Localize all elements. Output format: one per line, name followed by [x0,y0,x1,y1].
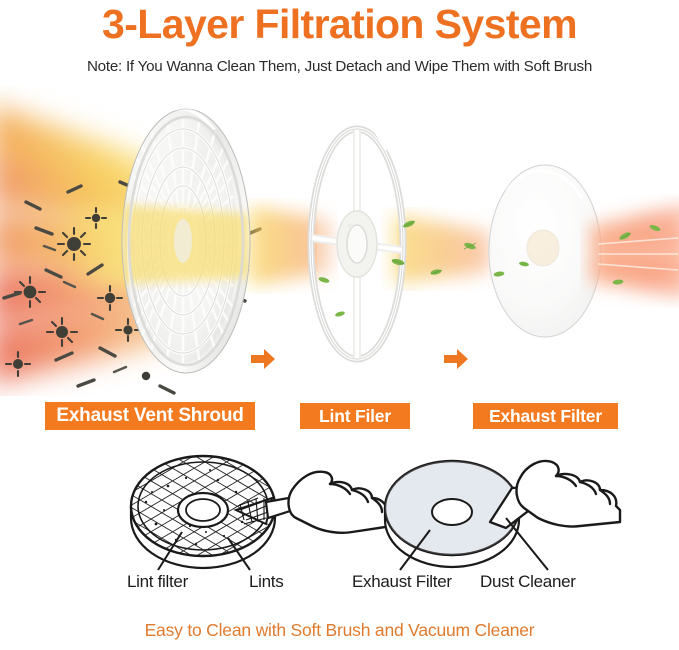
disc-lint-filer [311,120,403,359]
right-arrow-icon [250,348,276,370]
infographic-page: 3-Layer Filtration System Note: If You W… [0,0,679,650]
layer-badge-lint-filer: Lint Filer [300,403,410,429]
layer-badge-exhaust-filter: Exhaust Filter [473,403,618,429]
caption-lints: Lints [249,572,283,592]
hand-icon [289,472,392,533]
brush-cleaning-diagram [64,440,392,606]
page-title: 3-Layer Filtration System [0,4,679,45]
right-arrow-icon [443,348,469,370]
page-subtitle: Note: If You Wanna Clean Them, Just Deta… [0,58,679,75]
hand-icon [517,461,620,527]
footer-caption: Easy to Clean with Soft Brush and Vacuum… [0,620,679,641]
caption-lint-filter: Lint filter [127,572,188,592]
caption-dust-cleaner: Dust Cleaner [480,572,576,592]
disc-exhaust-filter [489,165,601,337]
caption-exhaust-filter: Exhaust Filter [352,572,452,592]
layer-badge-exhaust-vent-shroud: Exhaust Vent Shroud [45,402,255,430]
filtration-stage [0,86,679,396]
vacuum-cleaning-diagram [385,461,620,570]
clean-airflow [590,204,679,298]
airflow-and-discs [0,86,679,396]
cleaning-diagrams [0,440,679,610]
